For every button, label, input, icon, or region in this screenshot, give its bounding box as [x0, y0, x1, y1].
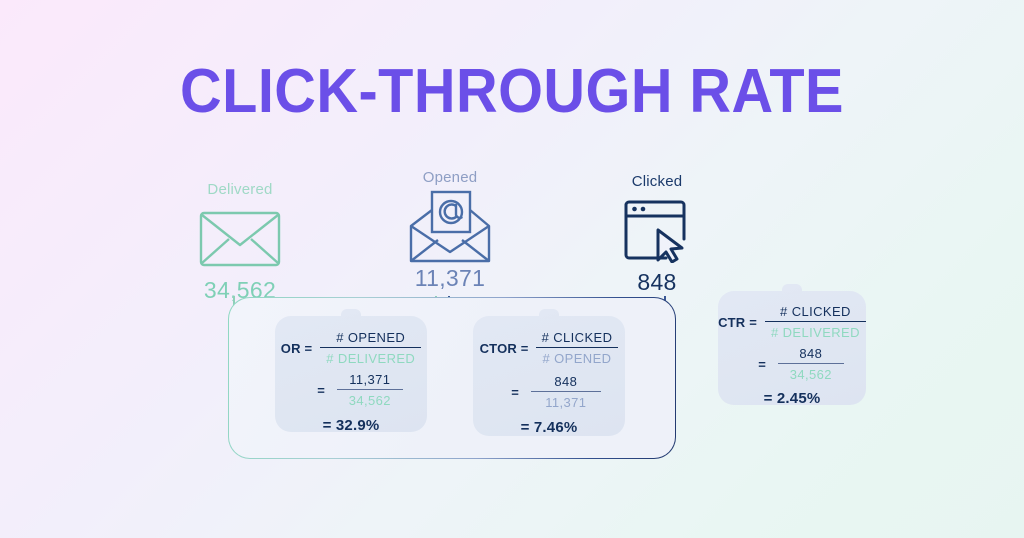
formula-card-ctr: CTR = # CLICKED # DELIVERED = 848 34,562… — [718, 291, 866, 405]
metric-clicked-value: 848 — [597, 271, 717, 294]
infographic-canvas: CLICK-THROUGH RATE Delivered 34,562 Open… — [0, 0, 1024, 538]
formula-or-denominator-value: 34,562 — [337, 390, 403, 408]
formula-ctr-denominator-label: # DELIVERED — [765, 322, 866, 340]
formula-ctr-numerator-value: 848 — [778, 346, 844, 363]
formula-or-label: OR = — [281, 341, 313, 356]
formula-or-equals-1: = — [317, 383, 325, 398]
metric-opened-label: Opened — [390, 170, 510, 185]
formula-ctr-result: = 2.45% — [764, 390, 821, 407]
formula-ctor-result: = 7.46% — [521, 419, 578, 436]
formula-ctr-label: CTR = — [718, 315, 757, 330]
formula-or-numerator-value: 11,371 — [337, 372, 403, 389]
formula-ctor-equals-1: = — [511, 385, 519, 400]
metric-opened-value: 11,371 — [390, 267, 510, 290]
formula-ctr-denominator-value: 34,562 — [778, 364, 844, 382]
formula-or-result: = 32.9% — [323, 417, 380, 434]
card-notch — [341, 309, 361, 319]
formula-or-numerator-label: # OPENED — [320, 330, 421, 347]
envelope-closed-icon — [180, 207, 300, 271]
formula-ctor-numerator-value: 848 — [531, 374, 601, 391]
formula-card-ctor: CTOR = # CLICKED # OPENED = 848 11,371 =… — [473, 316, 625, 436]
metric-clicked-label: Clicked — [597, 174, 717, 189]
formula-card-or: OR = # OPENED # DELIVERED = 11,371 34,56… — [275, 316, 427, 432]
formula-ctor-numerator-label: # CLICKED — [536, 330, 619, 347]
page-title: CLICK-THROUGH RATE — [36, 56, 988, 127]
browser-cursor-icon — [597, 199, 717, 263]
formula-ctr-equals-1: = — [758, 357, 766, 372]
card-notch — [539, 309, 559, 319]
formula-ctor-denominator-value: 11,371 — [531, 392, 601, 410]
metric-delivered: Delivered 34,562 — [180, 182, 300, 302]
formula-or-denominator-label: # DELIVERED — [320, 348, 421, 366]
envelope-open-at-icon — [390, 195, 510, 259]
metric-clicked: Clicked 848 — [597, 174, 717, 294]
formula-ctor-denominator-label: # OPENED — [536, 348, 619, 366]
formula-ctr-numerator-label: # CLICKED — [765, 304, 866, 321]
card-notch — [782, 284, 802, 294]
metric-delivered-label: Delivered — [180, 182, 300, 197]
formula-ctor-label: CTOR = — [480, 341, 529, 356]
metric-opened: Opened 11,371 — [390, 170, 510, 290]
